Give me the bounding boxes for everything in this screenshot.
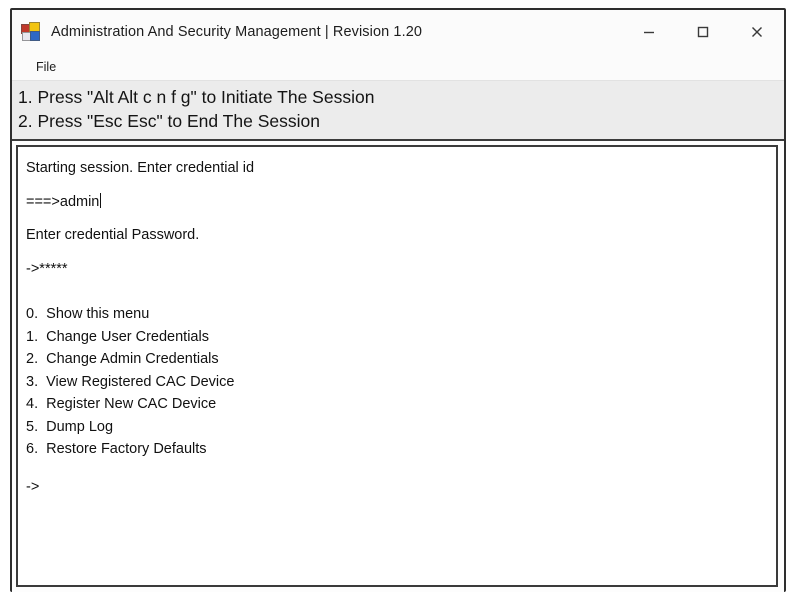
instruction-line-2: 2. Press "Esc Esc" to End The Session: [18, 109, 784, 133]
maximize-icon: [695, 24, 711, 40]
terminal-spacer-4: [26, 280, 766, 291]
screen-root: Administration And Security Management |…: [0, 0, 798, 606]
minimize-icon: [641, 24, 657, 40]
password-masked-value: *****: [39, 261, 67, 277]
command-menu-list: 0. Show this menu 1. Change User Credent…: [26, 303, 766, 461]
terminal-line-session-start: Starting session. Enter credential id: [26, 157, 766, 180]
terminal-spacer-3: [26, 247, 766, 258]
close-icon: [749, 24, 765, 40]
terminal-output-panel[interactable]: Starting session. Enter credential id ==…: [16, 145, 778, 587]
menu-option-4[interactable]: 4. Register New CAC Device: [26, 393, 766, 416]
terminal-final-prompt: ->: [26, 476, 766, 499]
menu-item-file[interactable]: File: [30, 58, 62, 76]
terminal-spacer-1: [26, 180, 766, 191]
menu-bar: File: [12, 54, 784, 80]
terminal-line-password-entry: ->*****: [26, 258, 766, 281]
credential-id-prompt: ===>: [26, 194, 60, 210]
terminal-spacer-5: [26, 291, 766, 302]
title-bar-left: Administration And Security Management |…: [12, 22, 622, 42]
password-prompt: ->: [26, 261, 39, 277]
text-cursor: [100, 193, 101, 208]
instruction-line-1: 1. Press "Alt Alt c n f g" to Initiate T…: [18, 85, 784, 109]
instructions-banner: 1. Press "Alt Alt c n f g" to Initiate T…: [12, 80, 784, 141]
menu-option-0[interactable]: 0. Show this menu: [26, 303, 766, 326]
menu-option-6[interactable]: 6. Restore Factory Defaults: [26, 438, 766, 461]
window-controls: [622, 10, 784, 54]
menu-option-3[interactable]: 3. View Registered CAC Device: [26, 371, 766, 394]
menu-option-5[interactable]: 5. Dump Log: [26, 416, 766, 439]
terminal-line-password-label: Enter credential Password.: [26, 224, 766, 247]
close-button[interactable]: [730, 10, 784, 54]
maximize-button[interactable]: [676, 10, 730, 54]
terminal-spacer-2: [26, 213, 766, 224]
title-bar: Administration And Security Management |…: [12, 10, 784, 54]
menu-option-2[interactable]: 2. Change Admin Credentials: [26, 348, 766, 371]
application-window: Administration And Security Management |…: [10, 8, 786, 592]
window-title: Administration And Security Management |…: [51, 24, 422, 40]
app-form-icon: [21, 22, 41, 42]
terminal-line-credential-id: ===>admin: [26, 191, 766, 214]
minimize-button[interactable]: [622, 10, 676, 54]
menu-option-1[interactable]: 1. Change User Credentials: [26, 326, 766, 349]
credential-id-value: admin: [60, 194, 100, 210]
terminal-outer-padding: Starting session. Enter credential id ==…: [12, 141, 784, 592]
